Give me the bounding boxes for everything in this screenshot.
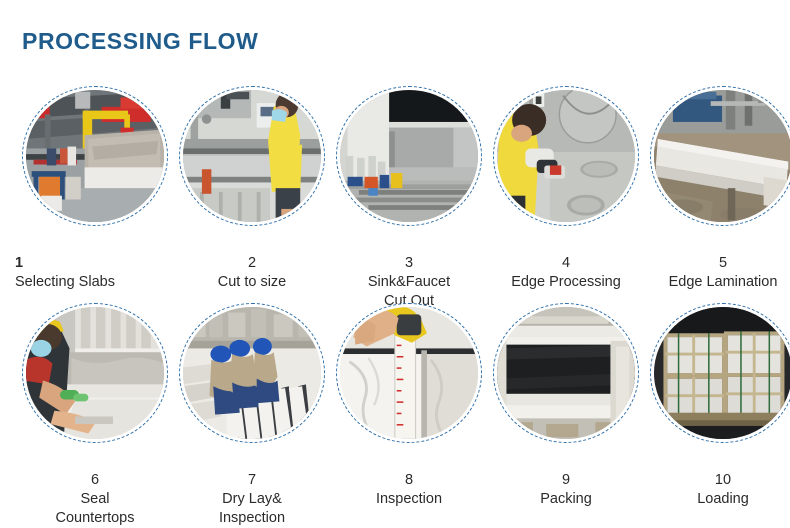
- step-number-6: 6: [91, 472, 99, 488]
- step-label-5: Edge Lamination: [669, 274, 778, 290]
- page-title: PROCESSING FLOW: [22, 28, 258, 54]
- step-label-7: Dry Lay& Inspection: [219, 491, 285, 526]
- flow-row-2: 6 Seal Countertops: [0, 303, 790, 528]
- photo-cut-to-size: [183, 90, 321, 222]
- photo-loading: [654, 307, 790, 439]
- step-label-1: Selecting Slabs: [15, 274, 115, 290]
- step-number-5: 5: [719, 255, 727, 271]
- medallion-6: [22, 303, 168, 443]
- photo-seal-countertops: [26, 307, 164, 439]
- medallion-2: [179, 86, 325, 226]
- flow-step-caption-4: 4 Edge Processing: [491, 235, 641, 292]
- step-label-6: Seal Countertops: [56, 491, 135, 526]
- medallion-4: [493, 86, 639, 226]
- photo-inspection: [340, 307, 478, 439]
- step-label-10: Loading: [697, 491, 749, 507]
- photo-edge-processing: [497, 90, 635, 222]
- medallion-10: [650, 303, 790, 443]
- photo-selecting-slabs: [26, 90, 164, 222]
- processing-flow-infographic: PROCESSING FLOW: [0, 0, 790, 520]
- flow-step-caption-5: 5 Edge Lamination: [648, 235, 790, 292]
- flow-step-5[interactable]: 5 Edge Lamination: [650, 86, 790, 292]
- flow-step-caption-10: 10 Loading: [648, 452, 790, 509]
- step-number-10: 10: [715, 472, 731, 488]
- step-number-7: 7: [248, 472, 256, 488]
- step-label-4: Edge Processing: [511, 274, 621, 290]
- medallion-9: [493, 303, 639, 443]
- photo-packing: [497, 307, 635, 439]
- flow-step-8[interactable]: 8 Inspection: [336, 303, 482, 509]
- flow-step-1[interactable]: 1 Selecting Slabs: [22, 86, 168, 292]
- step-number-8: 8: [405, 472, 413, 488]
- flow-step-2[interactable]: 2 Cut to size: [179, 86, 325, 292]
- medallion-8: [336, 303, 482, 443]
- step-label-2: Cut to size: [218, 274, 287, 290]
- step-number-4: 4: [562, 255, 570, 271]
- flow-step-10[interactable]: 10 Loading: [650, 303, 790, 509]
- flow-row-1: 1 Selecting Slabs: [0, 86, 790, 311]
- step-label-8: Inspection: [376, 491, 442, 507]
- flow-step-caption-9: 9 Packing: [491, 452, 641, 509]
- medallion-7: [179, 303, 325, 443]
- flow-step-3[interactable]: 3 Sink&Faucet Cut Out: [336, 86, 482, 311]
- step-number-2: 2: [248, 255, 256, 271]
- flow-step-6[interactable]: 6 Seal Countertops: [22, 303, 168, 528]
- step-label-9: Packing: [540, 491, 592, 507]
- medallion-3: [336, 86, 482, 226]
- flow-step-9[interactable]: 9 Packing: [493, 303, 639, 509]
- photo-dry-lay-inspection: [183, 307, 321, 439]
- photo-sink-faucet-cut-out: [340, 90, 478, 222]
- step-number-3: 3: [405, 255, 413, 271]
- flow-step-caption-2: 2 Cut to size: [177, 235, 327, 292]
- medallion-5: [650, 86, 790, 226]
- medallion-1: [22, 86, 168, 226]
- flow-step-caption-3: 3 Sink&Faucet Cut Out: [336, 235, 482, 311]
- flow-step-7[interactable]: 7 Dry Lay& Inspection: [179, 303, 325, 528]
- flow-step-caption-1: 1 Selecting Slabs: [15, 235, 175, 292]
- step-number-9: 9: [562, 472, 570, 488]
- step-number-1: 1: [15, 255, 23, 271]
- flow-step-4[interactable]: 4 Edge Processing: [493, 86, 639, 292]
- photo-edge-lamination: [654, 90, 790, 222]
- flow-step-caption-8: 8 Inspection: [334, 452, 484, 509]
- flow-step-caption-6: 6 Seal Countertops: [22, 452, 168, 528]
- flow-step-caption-7: 7 Dry Lay& Inspection: [179, 452, 325, 528]
